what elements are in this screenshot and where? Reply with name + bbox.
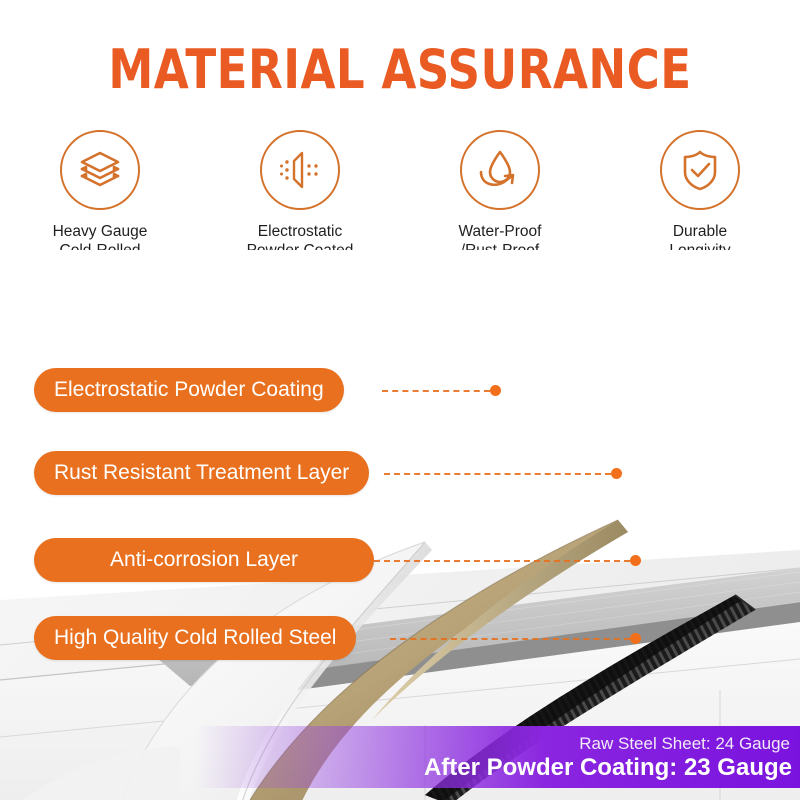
callout-high-quality-cold-rolled-steel[interactable]: High Quality Cold Rolled Steel xyxy=(34,616,356,660)
leader-dot-3 xyxy=(630,555,641,566)
infographic-root: MATERIAL ASSURANCE Heavy Gauge Cold-Roll… xyxy=(0,0,800,800)
powder-spray-icon xyxy=(260,130,340,210)
leader-line-4 xyxy=(390,638,630,640)
leader-line-1 xyxy=(382,390,490,392)
feature-heavy-gauge: Heavy Gauge Cold-Rolled xyxy=(10,130,190,260)
leader-dot-1 xyxy=(490,385,501,396)
callout-electrostatic-powder-coating[interactable]: Electrostatic Powder Coating xyxy=(34,368,344,412)
callout-label: Anti-corrosion Layer xyxy=(110,548,298,572)
product-photo xyxy=(0,250,800,800)
callout-label: High Quality Cold Rolled Steel xyxy=(54,626,336,650)
callout-rust-resistant-treatment-layer[interactable]: Rust Resistant Treatment Layer xyxy=(34,451,369,495)
banner-line-after-coating: After Powder Coating: 23 Gauge xyxy=(424,754,792,781)
leader-dot-4 xyxy=(630,633,641,644)
callout-anti-corrosion-layer[interactable]: Anti-corrosion Layer xyxy=(34,538,374,582)
callout-label: Rust Resistant Treatment Layer xyxy=(54,461,349,485)
feature-powder-coated: Electrostatic Powder Coated xyxy=(210,130,390,260)
feature-durable: Durable Longivity xyxy=(610,130,790,260)
leader-line-3 xyxy=(374,560,630,562)
layers-icon xyxy=(60,130,140,210)
gauge-banner: Raw Steel Sheet: 24 Gauge After Powder C… xyxy=(195,726,800,788)
feature-water-proof: Water-Proof /Rust-Proof xyxy=(410,130,590,260)
banner-line-raw-steel: Raw Steel Sheet: 24 Gauge xyxy=(579,734,790,754)
page-title: MATERIAL ASSURANCE xyxy=(28,38,772,101)
shield-check-icon xyxy=(660,130,740,210)
water-droplet-icon xyxy=(460,130,540,210)
leader-dot-2 xyxy=(611,468,622,479)
leader-line-2 xyxy=(384,473,611,475)
callout-label: Electrostatic Powder Coating xyxy=(54,378,324,402)
